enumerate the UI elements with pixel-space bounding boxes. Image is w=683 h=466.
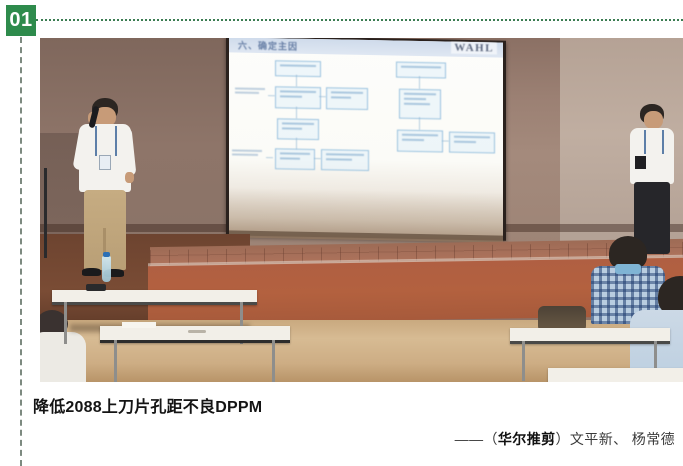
pen-on-desk: [188, 330, 206, 333]
phone-on-desk: [86, 284, 106, 291]
screen-glare: [229, 187, 503, 242]
desk-leg: [114, 340, 117, 382]
desk: [510, 328, 670, 344]
byline-dash: ——: [455, 431, 484, 447]
flow-label: [232, 149, 264, 158]
attendee-lanyard: [644, 130, 664, 154]
presenter-shoe-left: [82, 268, 101, 276]
slide-canvas: 01 六、确定主因 WAHL: [0, 0, 683, 466]
attendee-badge: [635, 156, 646, 169]
flow-node: [321, 149, 369, 171]
flow-label: [235, 87, 267, 96]
projector-screen-frame: 六、确定主因 WAHL: [226, 38, 506, 241]
mic-stand: [44, 168, 47, 258]
flow-node: [449, 132, 495, 154]
flow-arrow: [266, 157, 273, 158]
flow-arrow: [296, 75, 297, 87]
flow-arrow: [419, 117, 420, 130]
attendee-face: [644, 111, 663, 129]
left-dashed-rule: [20, 37, 22, 466]
flow-node: [397, 130, 443, 153]
desk-leg: [522, 341, 525, 381]
flow-arrow: [419, 76, 420, 89]
flow-node: [326, 87, 368, 110]
flow-arrow: [442, 140, 449, 141]
byline-paren-close: ）: [556, 431, 570, 447]
standing-attendee: [618, 104, 683, 254]
presenter-hand-right: [125, 172, 134, 183]
flow-node: [277, 118, 319, 140]
flow-node: [275, 86, 321, 109]
byline-company: 华尔推剪: [498, 431, 556, 447]
flow-arrow: [268, 95, 275, 96]
flow-arrow: [319, 96, 326, 97]
water-bottle: [102, 256, 111, 282]
bottle-cap: [103, 252, 110, 257]
top-dotted-rule: [36, 19, 683, 21]
flow-node: [275, 60, 321, 77]
audience-collar: [615, 264, 641, 274]
flow-arrow: [296, 107, 297, 119]
desk: [100, 326, 290, 343]
paper-on-desk: [122, 322, 156, 328]
presenter-badge: [99, 155, 111, 170]
projector-screen: 六、确定主因 WAHL: [229, 38, 503, 236]
flow-node: [399, 89, 441, 120]
slide-header-title: 六、确定主因: [238, 39, 298, 53]
flow-arrow: [314, 158, 321, 159]
presenter-lanyard: [95, 126, 117, 156]
byline-authors: 文平新、 杨常德: [570, 431, 675, 447]
desk: [548, 368, 683, 382]
flow-node: [275, 148, 315, 170]
desk-leg: [272, 340, 275, 382]
section-number-badge: 01: [6, 5, 36, 36]
byline: ——（华尔推剪）文平新、 杨常德: [455, 429, 675, 449]
wahl-logo: WAHL: [451, 42, 497, 55]
byline-paren-open: （: [483, 431, 497, 447]
audience-shirt: [40, 332, 86, 382]
presentation-photo: 六、确定主因 WAHL: [40, 38, 683, 382]
page-title: 降低2088上刀片孔距不良DPPM: [33, 393, 262, 417]
desk-leg: [64, 302, 67, 344]
desk: [52, 290, 257, 305]
flow-node: [396, 62, 446, 79]
